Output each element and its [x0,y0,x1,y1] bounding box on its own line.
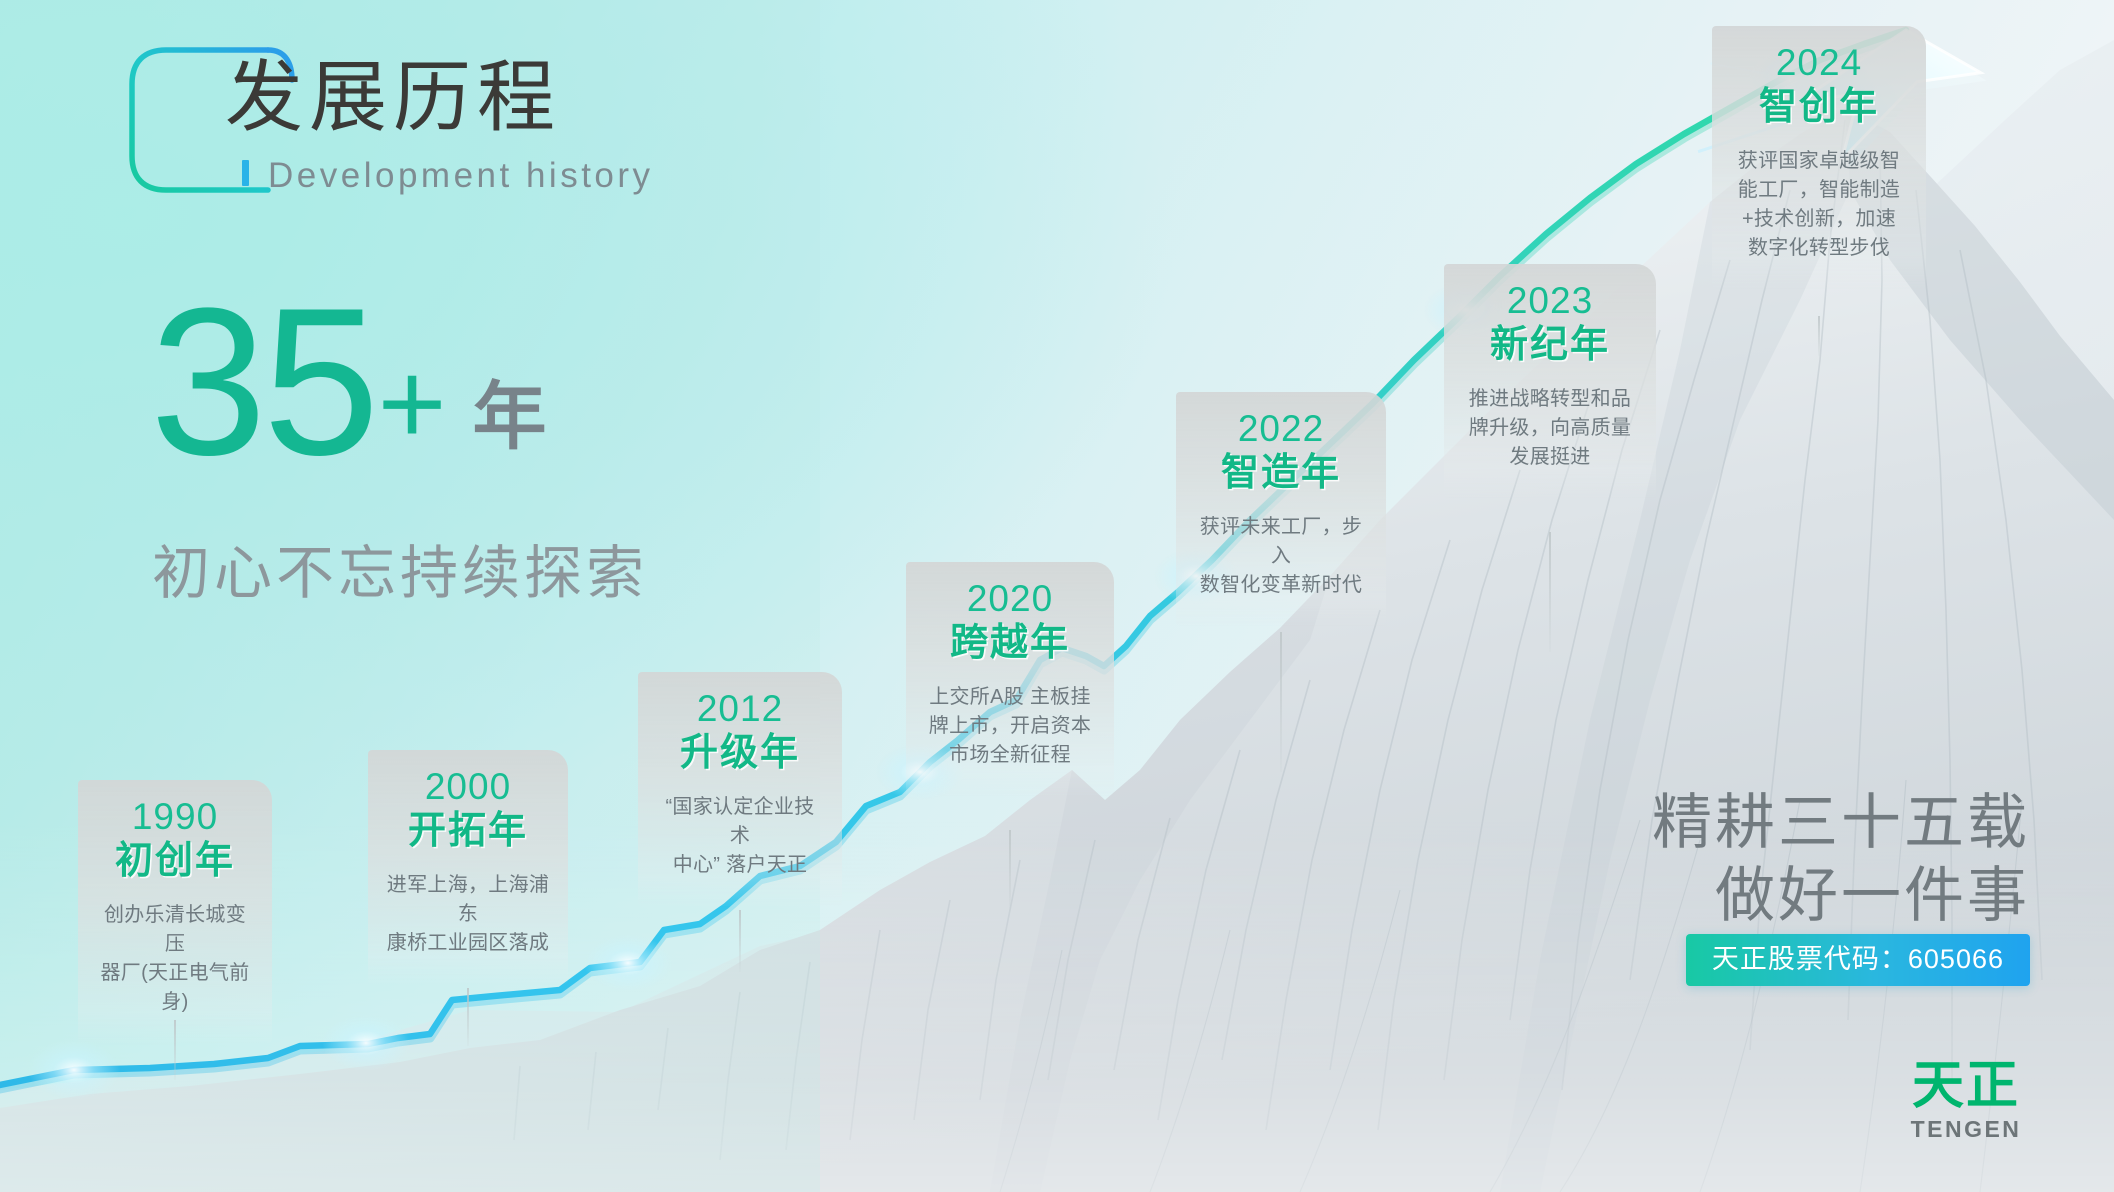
milestone-year: 1990 [96,794,254,839]
milestone-stem [174,1020,176,1080]
hero-slogan: 初心不忘持续探索 [152,545,648,603]
milestone-desc: 获评国家卓越级智 能工厂，智能制造 +技术创新，加速 数字化转型步伐 [1730,147,1908,263]
milestone-tag: 初创年 [96,839,254,885]
status-badge[interactable]: 天正股票代码：605066 [1686,934,2030,986]
page-header: 发展历程 Development history [120,36,760,206]
milestone-tag: 开拓年 [386,809,550,855]
milestone-card-2020[interactable]: 2020 跨越年 上交所A股 主板挂 牌上市，开启资本 市场全新征程 [906,562,1114,796]
milestone-desc: 上交所A股 主板挂 牌上市，开启资本 市场全新征程 [924,683,1096,770]
milestone-tag: 跨越年 [924,621,1096,667]
milestone-card-2022[interactable]: 2022 智造年 获评未来工厂，步入 数智化变革新时代 [1176,392,1386,626]
milestone-stem [467,988,469,1046]
milestone-year: 2000 [386,764,550,809]
milestone-panel: 1990 初创年 创办乐清长城变压 器厂(天正电气前身) [78,780,272,1043]
milestone-desc: 推进战略转型和品 牌升级，向高质量 发展挺进 [1462,385,1638,472]
milestone-card-2000[interactable]: 2000 开拓年 进军上海，上海浦东 康桥工业园区落成 [368,750,568,984]
stock-code-label: 天正股票代码：605066 [1712,944,2004,974]
milestone-year: 2020 [924,576,1096,621]
footer-slogan-line2: 做好一件事 [1652,859,2030,932]
milestone-desc: 创办乐清长城变压 器厂(天正电气前身) [96,901,254,1017]
milestone-card-2012[interactable]: 2012 升级年 “国家认定企业技术 中心” 落户天正 [638,672,842,906]
milestone-panel: 2012 升级年 “国家认定企业技术 中心” 落户天正 [638,672,842,906]
years-number: 35 [150,296,376,468]
milestone-stem [1280,632,1282,772]
milestone-year: 2024 [1730,40,1908,85]
milestone-year: 2012 [656,686,824,731]
milestone-panel: 2000 开拓年 进军上海，上海浦东 康桥工业园区落成 [368,750,568,984]
milestone-panel: 2024 智创年 获评国家卓越级智 能工厂，智能制造 +技术创新，加速 数字化转… [1712,26,1926,289]
milestone-stem [1549,532,1551,652]
milestone-panel: 2022 智造年 获评未来工厂，步入 数智化变革新时代 [1176,392,1386,626]
development-history-poster: 发展历程 Development history 35 + 年 初心不忘持续探索… [0,0,2114,1192]
logo-english-name: TENGEN [1902,1118,2030,1141]
milestone-tag: 新纪年 [1462,323,1638,369]
years-plus-sign: + [378,348,447,460]
milestone-stem [739,910,741,972]
milestone-stem [1009,830,1011,910]
milestone-card-2023[interactable]: 2023 新纪年 推进战略转型和品 牌升级，向高质量 发展挺进 [1444,264,1656,498]
footer-slogan-line1: 精耕三十五载 [1652,786,2030,859]
page-subtitle: Development history [268,158,654,193]
milestone-panel: 2020 跨越年 上交所A股 主板挂 牌上市，开启资本 市场全新征程 [906,562,1114,796]
years-unit-label: 年 [473,380,547,454]
milestone-card-2024[interactable]: 2024 智创年 获评国家卓越级智 能工厂，智能制造 +技术创新，加速 数字化转… [1712,26,1926,289]
milestone-year: 2023 [1462,278,1638,323]
page-title: 发展历程 [225,58,561,136]
footer-slogan: 精耕三十五载 做好一件事 [1652,786,2030,932]
subtitle-tick-marker [242,160,249,186]
milestone-panel: 2023 新纪年 推进战略转型和品 牌升级，向高质量 发展挺进 [1444,264,1656,498]
milestone-tag: 智造年 [1194,451,1368,497]
milestone-desc: 进军上海，上海浦东 康桥工业园区落成 [386,871,550,958]
company-logo: 天正 TENGEN [1902,1060,2030,1141]
milestone-card-1990[interactable]: 1990 初创年 创办乐清长城变压 器厂(天正电气前身) [78,780,272,1043]
milestone-stem [1818,316,1820,356]
milestone-desc: “国家认定企业技术 中心” 落户天正 [656,793,824,880]
milestone-tag: 智创年 [1730,85,1908,131]
milestone-tag: 升级年 [656,731,824,777]
milestone-desc: 获评未来工厂，步入 数智化变革新时代 [1194,513,1368,600]
years-count-block: 35 + 年 [150,278,547,468]
milestone-year: 2022 [1194,406,1368,451]
logo-chinese-name: 天正 [1902,1060,2030,1112]
